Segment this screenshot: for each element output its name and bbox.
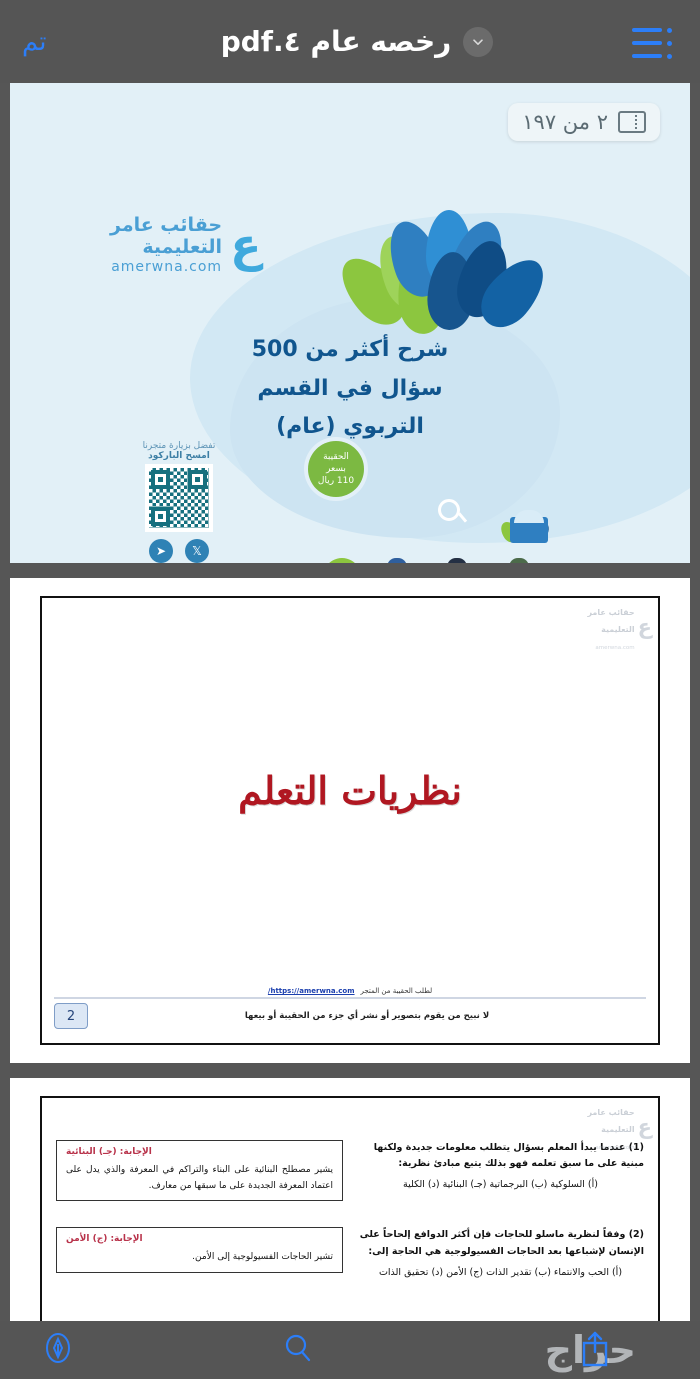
watermark-line-1b: حقائب عامر [587, 1108, 634, 1117]
pdf-page-3-questions[interactable]: ع حقائب عامر التعليمية amerwna.com (1) ع… [10, 1078, 690, 1321]
telegram-icon[interactable]: ➤ [149, 539, 173, 563]
price-badge: الحقيبة بسعر 110 ريال [308, 441, 364, 497]
pdf-page-2-title[interactable]: ع حقائب عامر التعليمية amerwna.com نظريا… [10, 578, 690, 1063]
leaf-decoration-2 [572, 561, 621, 563]
price-badge-line-3: 110 ريال [318, 475, 354, 487]
price-badge-line-1: الحقيبة [323, 451, 349, 463]
x-twitter-icon[interactable]: 𝕏 [185, 539, 209, 563]
bottom-toolbar: حراج [0, 1321, 700, 1379]
answer-title-1: الإجابة: (جـ) البنائية [66, 1147, 333, 1157]
document-title: رخصه عام ٤.pdf [221, 25, 452, 58]
answer-body-1: يشير مصطلح البنائية على البناء والتراكم … [66, 1162, 333, 1194]
question-options-1: (أ) السلوكية (ب) البرجماتية (جـ) البنائي… [357, 1179, 644, 1190]
answer-column-1: الإجابة: (جـ) البنائية يشير مصطلح البنائ… [56, 1140, 343, 1201]
document-watermark-logo-2: ع حقائب عامر التعليمية amerwna.com [587, 1102, 652, 1152]
answer-box-1: الإجابة: (جـ) البنائية يشير مصطلح البنائ… [56, 1140, 343, 1201]
page-title: نظريات التعلم [42, 768, 658, 813]
document-footer: لطلب الحقيبة من المتجر https://amerwna.c… [54, 987, 646, 1029]
menu-dot-2 [667, 41, 672, 46]
watermark-mark-letter: ع [638, 617, 652, 638]
question-row-1: (1) عندما يبدأ المعلم بسؤال يتطلب معلوما… [42, 1140, 658, 1201]
cover-brand-logo: ع حقائب عامر التعليمية amerwna.com [110, 215, 262, 275]
answer-title-2: الإجابة: (ج) الأمن [66, 1234, 333, 1244]
document-title-group[interactable]: رخصه عام ٤.pdf [221, 25, 494, 58]
person-2 [444, 561, 470, 563]
watermark-mark-letter-2: ع [638, 1117, 652, 1138]
document-border-frame: ع حقائب عامر التعليمية amerwna.com نظريا… [40, 596, 660, 1045]
share-area[interactable]: حراج [520, 1325, 660, 1375]
questions-border-frame: ع حقائب عامر التعليمية amerwna.com (1) ع… [40, 1096, 660, 1321]
cover-headline: شرح أكثر من 500 سؤال في القسم التربوي (ع… [10, 331, 690, 447]
cover-headline-line-2: سؤال في القسم [10, 370, 690, 409]
watermark-line-3: amerwna.com [595, 645, 634, 651]
page-number-box: 2 [54, 1003, 88, 1029]
footer-store-link[interactable]: https://amerwna.com/ [268, 987, 355, 995]
pdf-page-scroll-area[interactable]: ٢ من ١٩٧ ع حقائب عامر التعليمية amerwna.… [0, 83, 700, 1321]
menu-dot-1 [667, 28, 672, 33]
cover-headline-line-1: شرح أكثر من 500 [10, 331, 690, 370]
qr-section: تفضل بزيارة متجرنا امسح الباركود 𝕏 ➤ تصف… [114, 441, 244, 563]
chevron-down-icon[interactable] [463, 27, 493, 57]
answer-body-2: تشير الحاجات الفسيولوجية إلى الأمن. [66, 1249, 333, 1265]
footer-copyright-note: لا نبيح من يقوم بتصوير أو نشر أي جزء من … [88, 1011, 646, 1021]
answer-box-2: الإجابة: (ج) الأمن تشير الحاجات الفسيولو… [56, 1227, 343, 1272]
top-toolbar: تم رخصه عام ٤.pdf [0, 0, 700, 83]
pdf-viewer-screen: تم رخصه عام ٤.pdf ٢ من ١٩٧ [0, 0, 700, 1379]
watermark-line-2b: التعليمية [601, 1125, 635, 1134]
leaf-petals-logo [350, 218, 550, 328]
person-3 [506, 561, 532, 563]
pdf-page-1-cover[interactable]: ٢ من ١٩٧ ع حقائب عامر التعليمية amerwna.… [10, 83, 690, 563]
footer-divider [54, 997, 646, 999]
search-icon[interactable] [280, 1330, 316, 1370]
potted-plant-icon [318, 558, 366, 563]
menu-bar-2 [632, 41, 662, 45]
watermark-line-1: حقائب عامر [587, 608, 634, 617]
document-watermark-logo: ع حقائب عامر التعليمية amerwna.com [587, 602, 652, 652]
done-button[interactable]: تم [22, 27, 82, 57]
page-view-icon [618, 111, 646, 133]
person-1 [384, 561, 410, 563]
brand-line-2: التعليمية [110, 237, 222, 259]
answer-column-2: الإجابة: (ج) الأمن تشير الحاجات الفسيولو… [56, 1227, 343, 1277]
page-indicator-label: ٢ من ١٩٧ [522, 110, 608, 134]
brand-mark-letter: ع [230, 222, 261, 268]
markup-pen-icon[interactable] [40, 1330, 76, 1370]
cover-headline-line-3: التربوي (عام) [10, 408, 690, 447]
watermark-line-2: التعليمية [601, 625, 635, 634]
share-icon[interactable] [578, 1328, 612, 1372]
price-badge-line-2: بسعر [326, 463, 346, 475]
watermark-line-3b: amerwna.com [595, 1145, 634, 1151]
qr-caption-2: امسح الباركود [114, 451, 244, 461]
brand-line-1: حقائب عامر [110, 215, 222, 237]
social-icons: 𝕏 ➤ [114, 539, 244, 563]
question-options-2: (أ) الحب والانتماء (ب) تقدير الذات (ج) ا… [357, 1267, 644, 1278]
footer-note-small: لطلب الحقيبة من المتجر [361, 987, 433, 995]
question-text-2: (2) وفقاً لنظرية ماسلو للحاجات فإن أكثر … [357, 1227, 644, 1259]
question-column-2: (2) وفقاً لنظرية ماسلو للحاجات فإن أكثر … [357, 1227, 644, 1277]
qr-caption-1: تفضل بزيارة متجرنا [114, 441, 244, 451]
table-of-contents-icon[interactable] [632, 25, 678, 59]
qr-code[interactable] [145, 464, 213, 532]
menu-bar-3 [632, 54, 662, 58]
menu-dot-3 [667, 54, 672, 59]
question-row-2: (2) وفقاً لنظرية ماسلو للحاجات فإن أكثر … [42, 1227, 658, 1277]
magnifier-decoration-icon [438, 499, 460, 521]
people-illustration [310, 503, 620, 563]
brand-website: amerwna.com [110, 259, 222, 275]
envelope-icon [510, 517, 548, 543]
page-indicator[interactable]: ٢ من ١٩٧ [508, 103, 660, 141]
menu-bar-1 [632, 28, 662, 32]
